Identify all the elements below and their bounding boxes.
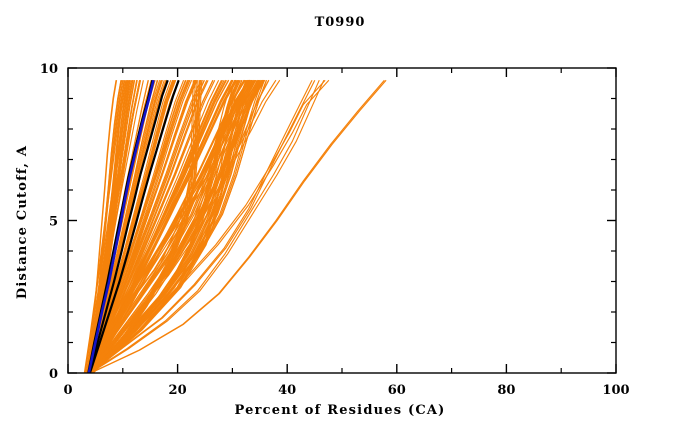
y-tick-label: 5	[49, 215, 58, 230]
x-axis-label: Percent of Residues (CA)	[234, 403, 445, 418]
x-tick-label: 60	[388, 383, 406, 398]
y-tick-label: 0	[49, 367, 58, 382]
x-tick-label: 20	[169, 383, 187, 398]
y-tick-label: 10	[40, 62, 58, 77]
curves-layer	[84, 80, 386, 373]
x-tick-label: 40	[278, 383, 296, 398]
x-tick-label: 100	[602, 383, 629, 398]
x-tick-label: 0	[63, 383, 72, 398]
plot-area: 0204060801000510 Percent of Residues (CA…	[0, 0, 680, 440]
x-tick-label: 80	[497, 383, 515, 398]
y-axis-label: Distance Cutoff, A	[15, 145, 30, 299]
chart-screenshot: T0990 0204060801000510 Percent of Residu…	[0, 0, 680, 440]
